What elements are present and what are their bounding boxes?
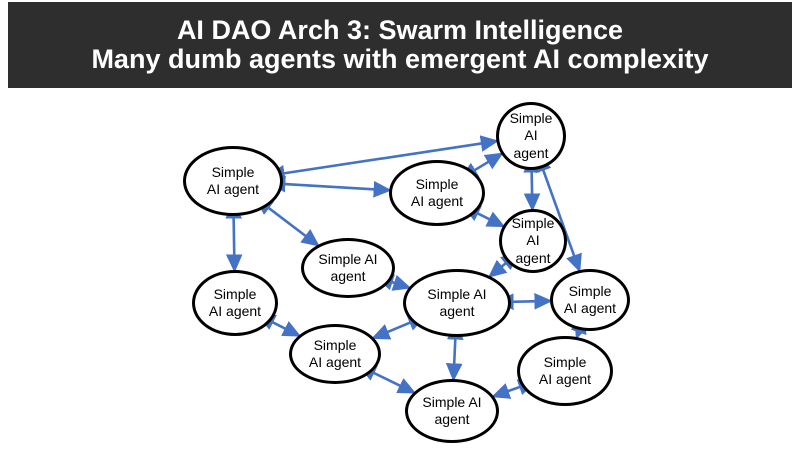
agent-node[interactable]: SimpleAI agent — [183, 146, 283, 216]
agent-node-label: SimpleAI agent — [508, 215, 558, 268]
agent-node[interactable]: SimpleAI agent — [496, 102, 566, 170]
swarm-diagram: SimpleAI agentSimpleAI agentSimpleAI age… — [0, 88, 800, 450]
slide-canvas: AI DAO Arch 3: Swarm Intelligence Many d… — [0, 0, 800, 450]
agent-node-label: SimpleAI agent — [201, 286, 269, 321]
agent-node-label: SimpleAI agent — [526, 354, 604, 389]
agent-node[interactable]: Simple AIagent — [403, 269, 511, 337]
agent-node-label: SimpleAI agent — [398, 176, 476, 211]
slide-title-banner: AI DAO Arch 3: Swarm Intelligence Many d… — [8, 2, 792, 88]
agent-node[interactable]: SimpleAI agent — [550, 269, 630, 331]
agent-node[interactable]: Simple AIagent — [405, 379, 499, 443]
agent-node-label: SimpleAI agent — [192, 164, 274, 199]
agent-node-label: Simple AIagent — [310, 251, 386, 286]
agent-node-label: SimpleAI agent — [505, 110, 557, 163]
slide-title-line-2: Many dumb agents with emergent AI comple… — [91, 45, 708, 74]
agent-node[interactable]: SimpleAI agent — [289, 324, 381, 384]
agent-node-label: SimpleAI agent — [559, 283, 621, 318]
agent-node-label: Simple AIagent — [412, 286, 502, 321]
agent-node[interactable]: Simple AIagent — [301, 238, 395, 298]
diagram-node-layer: SimpleAI agentSimpleAI agentSimpleAI age… — [0, 88, 800, 450]
slide-title-line-1: AI DAO Arch 3: Swarm Intelligence — [177, 16, 623, 45]
agent-node-label: SimpleAI agent — [298, 337, 372, 372]
agent-node[interactable]: SimpleAI agent — [192, 270, 278, 336]
agent-node-label: Simple AIagent — [414, 394, 490, 429]
agent-node[interactable]: SimpleAI agent — [499, 209, 567, 273]
agent-node[interactable]: SimpleAI agent — [517, 336, 613, 406]
agent-node[interactable]: SimpleAI agent — [389, 160, 485, 226]
